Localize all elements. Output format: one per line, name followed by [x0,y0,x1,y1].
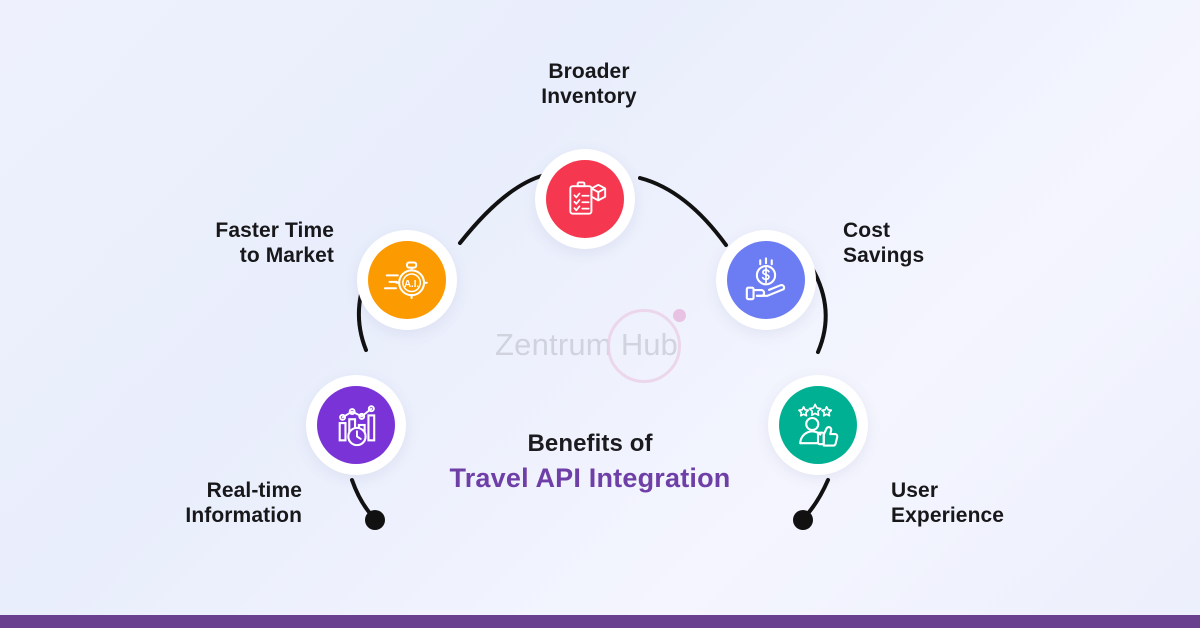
stopwatch-ai-icon: A.I. [384,257,430,303]
node-disc-user-experience [779,386,857,464]
node-disc-faster-time: A.I. [368,241,446,319]
bottom-accent-bar [0,615,1200,628]
node-disc-broader-inventory [546,160,624,238]
arc-endpoint-left-dot [365,510,385,530]
bar-chart-clock-icon [333,402,379,448]
infographic-canvas: Zentrum Hub [0,0,1200,628]
label-cost-savings: Cost Savings [843,219,1103,269]
arc-endpoint-right-dot [793,510,813,530]
node-cost-savings[interactable] [716,230,816,330]
label-realtime-info: Real-time Information [50,479,302,529]
label-user-experience: User Experience [891,479,1141,529]
label-faster-time: Faster Time to Market [80,219,334,269]
node-broader-inventory[interactable] [535,149,635,249]
center-title-block: Benefits of Travel API Integration [390,430,790,494]
label-broader-inventory: Broader Inventory [479,60,699,110]
user-thumbsup-stars-icon [795,402,841,448]
clipboard-box-icon [563,177,607,221]
svg-text:A.I.: A.I. [404,279,419,290]
node-disc-cost-savings [727,241,805,319]
node-faster-time[interactable]: A.I. [357,230,457,330]
node-disc-realtime-info [317,386,395,464]
center-title-line1: Benefits of [390,430,790,458]
hand-dollar-icon [743,257,789,303]
center-title-line2: Travel API Integration [390,463,790,494]
